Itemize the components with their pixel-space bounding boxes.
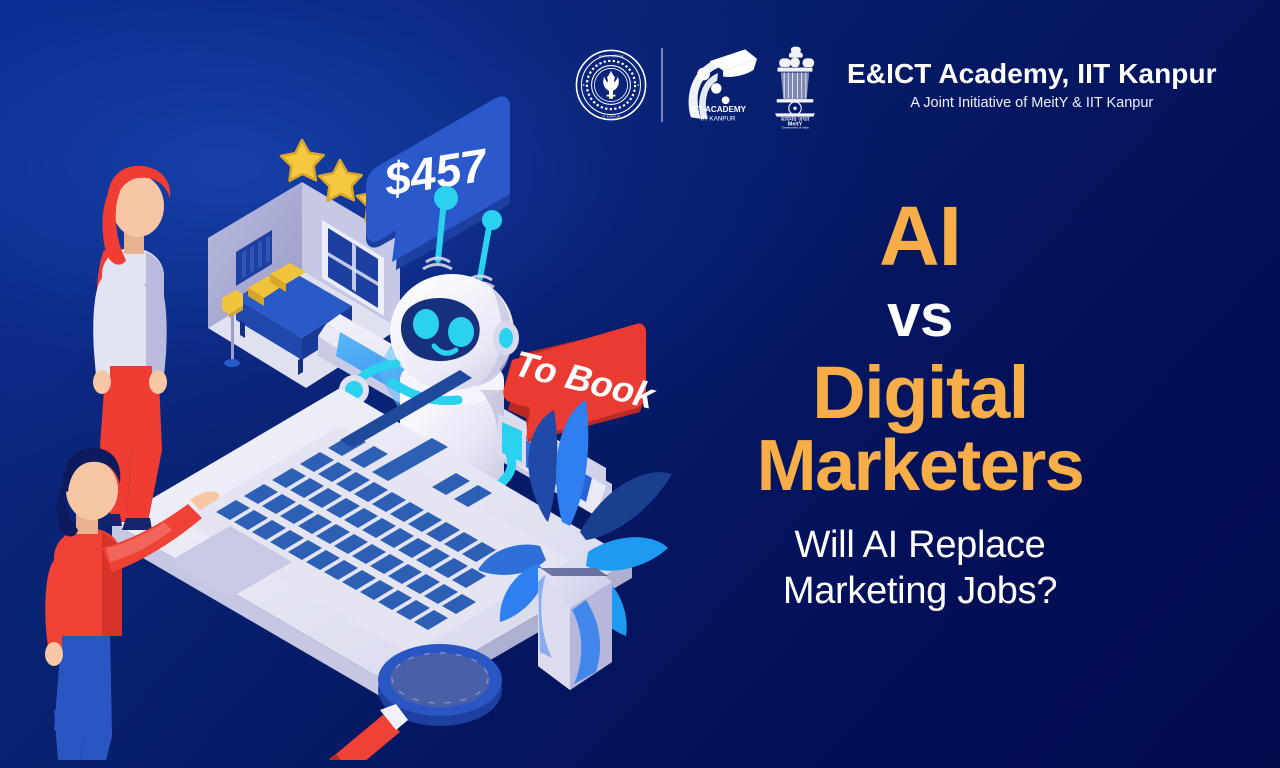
- meity-emblem-icon: सत्यमेव जयते MeitY Government of India: [765, 41, 825, 129]
- banner-root: तमसो मा ज्योतिर्गमय IIT KANPUR ICT ACADE…: [0, 0, 1280, 768]
- headline-block: AI vs Digital Marketers Will AI Replace …: [680, 196, 1160, 614]
- subheadline-line-2: Marketing Jobs?: [680, 568, 1160, 614]
- svg-text:तमसो मा ज्योतिर्गमय: तमसो मा ज्योतिर्गमय: [599, 55, 624, 59]
- ict-academy-sub-wordmark: IIT KANPUR: [700, 116, 736, 123]
- robot-eye-left: [413, 309, 439, 339]
- headline-line-ai: AI: [680, 196, 1160, 277]
- hero-illustration: $457: [40, 70, 700, 760]
- robot-eye-right: [448, 317, 474, 347]
- illustration-svg: $457: [40, 70, 700, 760]
- antenna-ball-right: [482, 210, 502, 230]
- headline-line-marketers: Marketers: [680, 430, 1160, 503]
- academy-title: E&ICT Academy, IIT Kanpur: [847, 58, 1217, 90]
- academy-subtitle: A Joint Initiative of MeitY & IIT Kanpur: [847, 95, 1217, 112]
- meity-govt-text: Government of India: [781, 125, 808, 129]
- headline-line-digital: Digital: [680, 355, 1160, 430]
- star-icon: [319, 160, 362, 201]
- antenna-ball-left: [434, 186, 458, 210]
- headline-line-vs: vs: [680, 283, 1160, 349]
- subheadline-line-1: Will AI Replace: [680, 522, 1160, 568]
- star-icon: [281, 140, 324, 181]
- header-text-block: E&ICT Academy, IIT Kanpur A Joint Initia…: [847, 58, 1217, 113]
